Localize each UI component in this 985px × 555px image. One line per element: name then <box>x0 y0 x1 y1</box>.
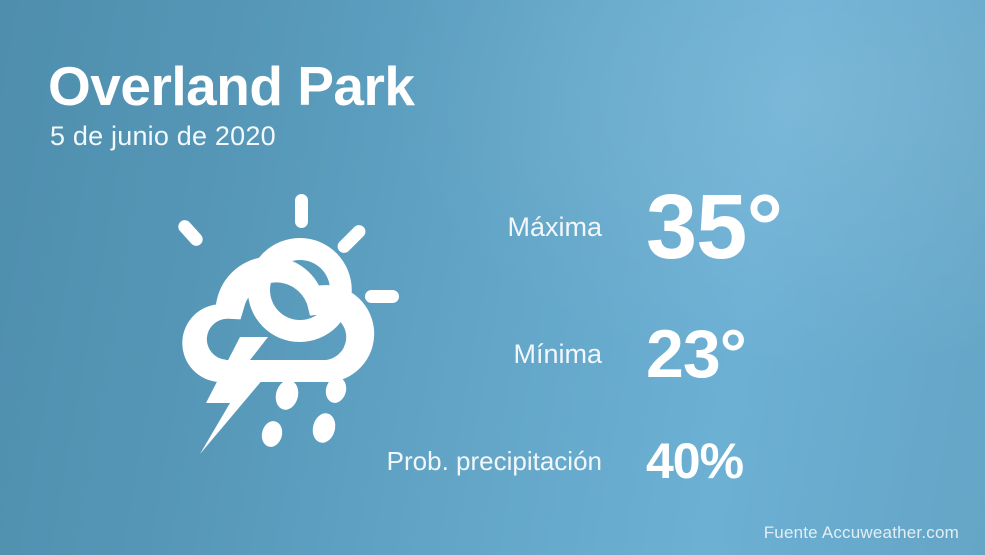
source-attribution: Fuente Accuweather.com <box>764 523 959 543</box>
sun-ray-upper-left <box>176 218 206 249</box>
sun-behind-cloud-with-thunderstorm-and-rain-icon <box>140 182 412 454</box>
rain-drop <box>259 419 285 449</box>
precipitation-probability-value: 40% <box>646 436 743 486</box>
max-temperature-label: Máxima <box>380 212 646 243</box>
min-temperature-value: 23° <box>646 320 746 388</box>
reading-row-max: Máxima 35° <box>380 168 940 286</box>
date-label: 5 de junio de 2020 <box>50 121 414 152</box>
sun-ray-top <box>295 194 308 228</box>
card-header: Overland Park 5 de junio de 2020 <box>48 58 414 152</box>
max-temperature-value: 35° <box>646 181 782 273</box>
sun-ray-upper-right <box>335 222 368 255</box>
reading-row-precipitation: Prob. precipitación 40% <box>380 422 940 500</box>
weather-readings: Máxima 35° Mínima 23° Prob. precipitació… <box>380 168 940 500</box>
rain-drop <box>310 411 339 445</box>
precipitation-probability-label: Prob. precipitación <box>380 446 646 477</box>
page-title: Overland Park <box>48 58 414 115</box>
weather-card: Overland Park 5 de junio de 2020 <box>0 0 985 555</box>
rain-drop <box>273 378 302 412</box>
reading-row-min: Mínima 23° <box>380 286 940 422</box>
min-temperature-label: Mínima <box>380 339 646 370</box>
